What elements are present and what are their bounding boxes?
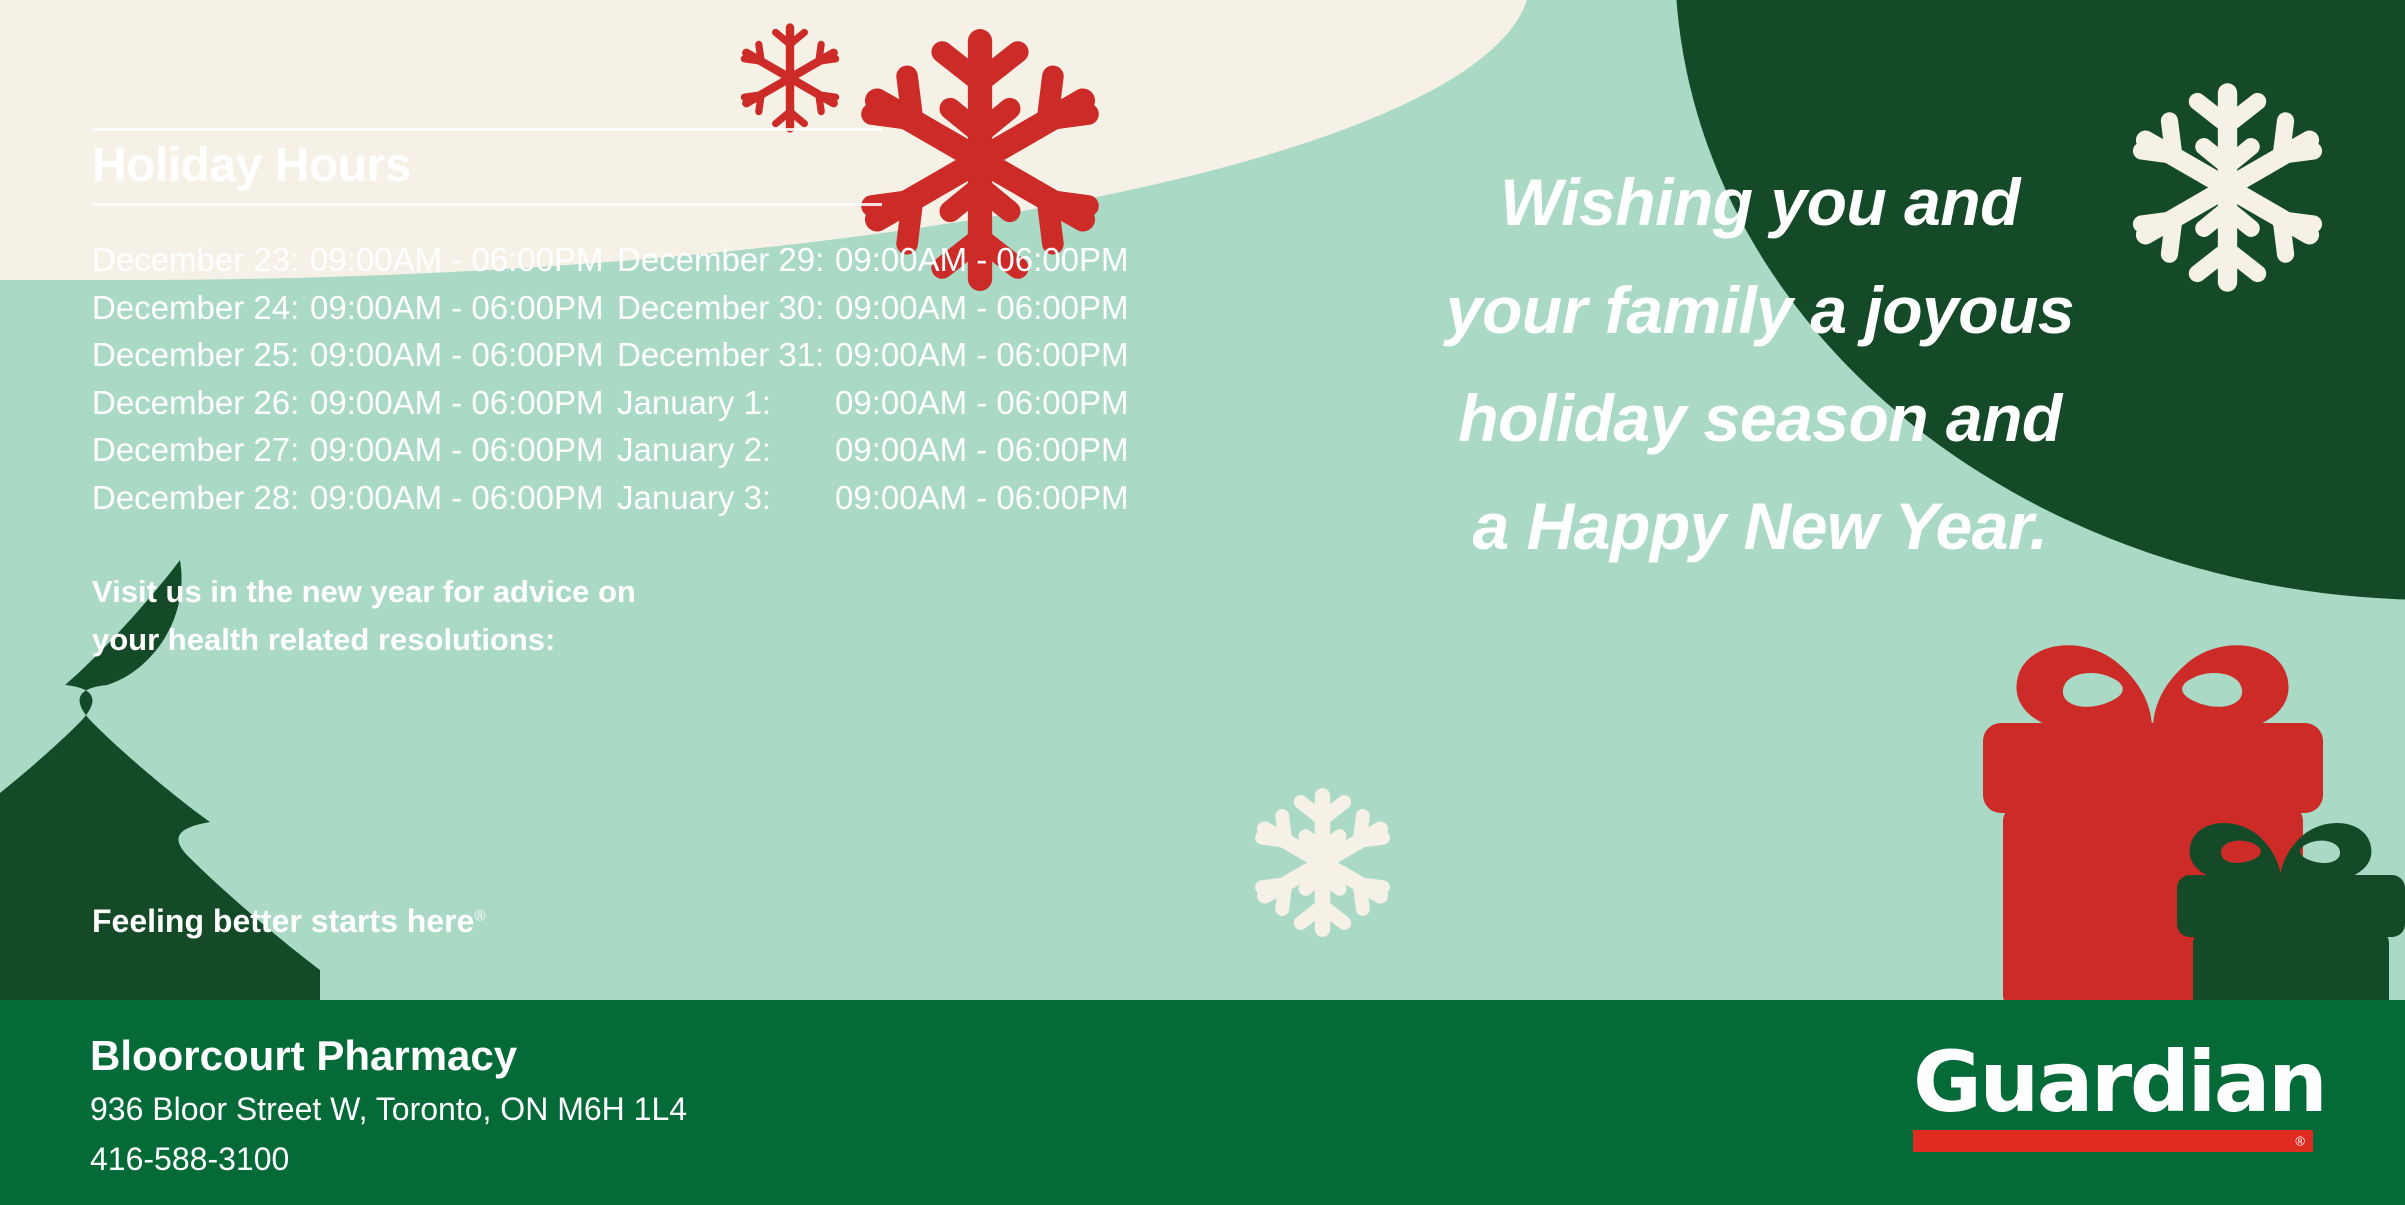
greeting-line-3: holiday season and — [1320, 364, 2200, 472]
hours-row: December 23:09:00AM - 06:00PM — [92, 236, 617, 284]
hours-row: December 26:09:00AM - 06:00PM — [92, 379, 617, 427]
hours-day: January 1: — [617, 379, 835, 427]
hours-title: Holiday Hours — [92, 131, 1122, 203]
hours-time: 09:00AM - 06:00PM — [835, 331, 1129, 379]
greeting-line-1: Wishing you and — [1320, 148, 2200, 256]
hours-day: January 2: — [617, 426, 835, 474]
greeting-line-4: a Happy New Year. — [1320, 472, 2200, 580]
hours-row: January 1:09:00AM - 06:00PM — [617, 379, 1142, 427]
hours-day: December 23: — [92, 236, 310, 284]
store-phone[interactable]: 416-588-3100 — [90, 1134, 687, 1184]
hours-row: December 25:09:00AM - 06:00PM — [92, 331, 617, 379]
greeting-message: Wishing you and your family a joyous hol… — [1320, 148, 2200, 580]
hours-time: 09:00AM - 06:00PM — [310, 474, 604, 522]
hours-row: December 29:09:00AM - 06:00PM — [617, 236, 1142, 284]
hours-time: 09:00AM - 06:00PM — [835, 474, 1129, 522]
hours-row: December 27:09:00AM - 06:00PM — [92, 426, 617, 474]
tagline-text: Feeling better starts here — [92, 903, 474, 939]
hours-grid: December 23:09:00AM - 06:00PMDecember 29… — [92, 236, 1122, 521]
divider-top — [92, 128, 882, 131]
snowflake-icon — [730, 18, 850, 138]
holiday-hours-block: Holiday Hours December 23:09:00AM - 06:0… — [92, 128, 1122, 521]
hours-time: 09:00AM - 06:00PM — [835, 379, 1129, 427]
hours-day: December 24: — [92, 284, 310, 332]
registered-mark-icon: ® — [474, 907, 485, 924]
hours-row: January 3:09:00AM - 06:00PM — [617, 474, 1142, 522]
hours-row: December 24:09:00AM - 06:00PM — [92, 284, 617, 332]
hours-time: 09:00AM - 06:00PM — [835, 284, 1129, 332]
hours-day: December 30: — [617, 284, 835, 332]
hours-time: 09:00AM - 06:00PM — [835, 236, 1129, 284]
hours-row: December 31:09:00AM - 06:00PM — [617, 331, 1142, 379]
divider-bottom — [92, 203, 882, 206]
hours-day: January 3: — [617, 474, 835, 522]
gift-box-icon — [1955, 595, 2405, 1015]
guardian-wordmark: Guardian — [1913, 1040, 2313, 1124]
tagline: Feeling better starts here® — [92, 903, 485, 940]
hours-row: December 28:09:00AM - 06:00PM — [92, 474, 617, 522]
hours-day: December 25: — [92, 331, 310, 379]
hours-time: 09:00AM - 06:00PM — [310, 426, 604, 474]
hours-row: January 2:09:00AM - 06:00PM — [617, 426, 1142, 474]
hours-day: December 27: — [92, 426, 310, 474]
registered-mark-icon: ® — [2295, 1135, 2305, 1148]
hours-day: December 28: — [92, 474, 310, 522]
hours-row: December 30:09:00AM - 06:00PM — [617, 284, 1142, 332]
visit-copy: Visit us in the new year for advice on y… — [92, 568, 852, 664]
snowflake-icon — [1245, 785, 1400, 940]
hours-time: 09:00AM - 06:00PM — [835, 426, 1129, 474]
guardian-underline-bar: ® — [1913, 1130, 2313, 1152]
hours-day: December 29: — [617, 236, 835, 284]
guardian-logo: Guardian ® — [1913, 1040, 2313, 1152]
visit-copy-line-1: Visit us in the new year for advice on — [92, 568, 852, 616]
hours-day: December 26: — [92, 379, 310, 427]
hours-day: December 31: — [617, 331, 835, 379]
store-name: Bloorcourt Pharmacy — [90, 1028, 687, 1084]
hours-time: 09:00AM - 06:00PM — [310, 331, 604, 379]
hours-time: 09:00AM - 06:00PM — [310, 379, 604, 427]
greeting-line-2: your family a joyous — [1320, 256, 2200, 364]
holiday-card: Holiday Hours December 23:09:00AM - 06:0… — [0, 0, 2405, 1205]
visit-copy-line-2: your health related resolutions: — [92, 616, 852, 664]
store-address: 936 Bloor Street W, Toronto, ON M6H 1L4 — [90, 1084, 687, 1134]
footer-contact-info: Bloorcourt Pharmacy 936 Bloor Street W, … — [90, 1028, 687, 1184]
hours-time: 09:00AM - 06:00PM — [310, 284, 604, 332]
hours-time: 09:00AM - 06:00PM — [310, 236, 604, 284]
